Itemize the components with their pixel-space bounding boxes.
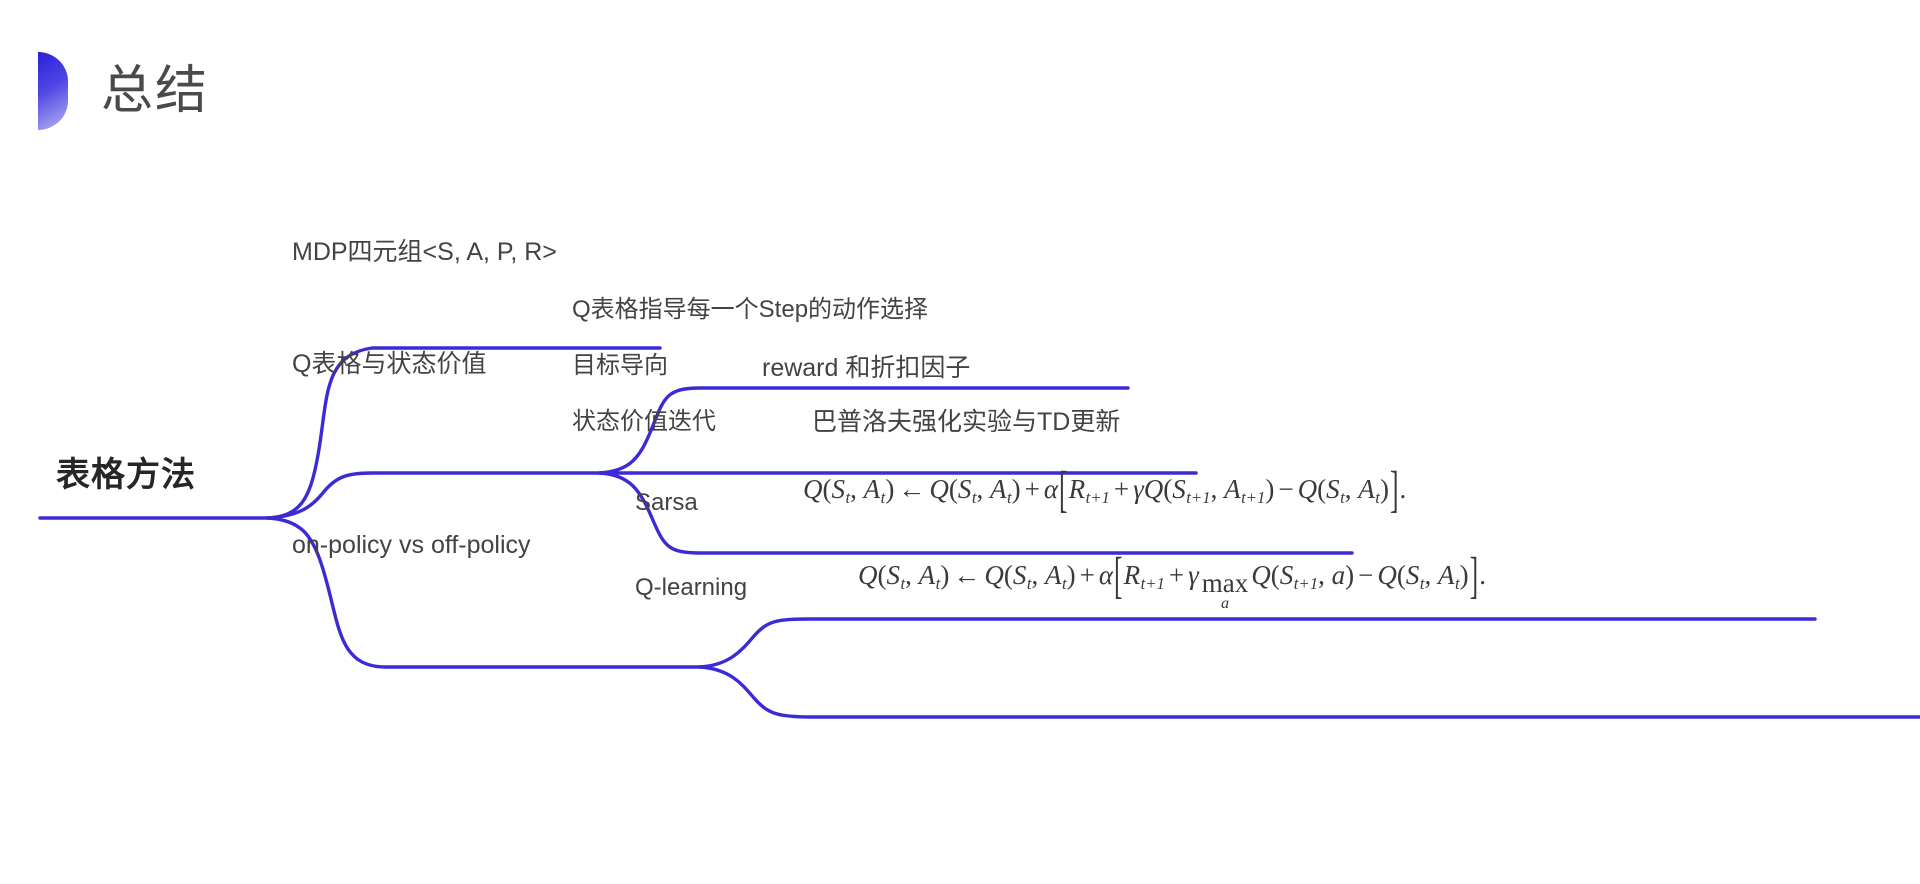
- mindmap-node-q-table-state-value[interactable]: Q表格与状态价值: [292, 352, 486, 377]
- mindmap-node-reward-discount-factor[interactable]: reward 和折扣因子: [762, 356, 970, 381]
- mindmap-connectors: [0, 0, 1920, 884]
- page-title: 总结: [101, 65, 209, 117]
- connector-policy-to-qlearning: [700, 667, 1920, 717]
- mindmap-node-on-off-policy[interactable]: on-policy vs off-policy: [292, 533, 531, 558]
- mindmap-node-pavlov-td-update[interactable]: 巴普洛夫强化实验与TD更新: [812, 410, 1120, 435]
- connector-root-to-qtable: [268, 473, 600, 518]
- mindmap-node-state-value-iteration[interactable]: 状态价值迭代: [572, 410, 716, 434]
- connector-policy-to-sarsa: [700, 619, 1815, 667]
- slide-canvas: 总结 表格方法 MDP四元组<S, A, P, R> Q表格与状态价值 on-p…: [0, 0, 1920, 884]
- half-circle-gradient-icon: [38, 52, 68, 130]
- slide-title-block: 总结: [38, 48, 209, 134]
- mindmap-node-sarsa[interactable]: Sarsa: [635, 491, 698, 515]
- mindmap-node-goal-oriented[interactable]: 目标导向: [572, 354, 668, 378]
- mindmap-root-node[interactable]: 表格方法: [56, 458, 196, 492]
- mindmap-node-mdp[interactable]: MDP四元组<S, A, P, R>: [292, 240, 557, 265]
- formula-sarsa-update: Q(St, At)←Q(St, At)+α[Rt+1+γQ(St+1, At+1…: [803, 476, 1406, 507]
- formula-qlearning-update: Q(St, At)←Q(St, At)+α[Rt+1+γmaxaQ(St+1, …: [858, 562, 1486, 611]
- mindmap-node-q-table-step-action[interactable]: Q表格指导每一个Step的动作选择: [572, 298, 928, 322]
- mindmap-node-q-learning[interactable]: Q-learning: [635, 576, 747, 600]
